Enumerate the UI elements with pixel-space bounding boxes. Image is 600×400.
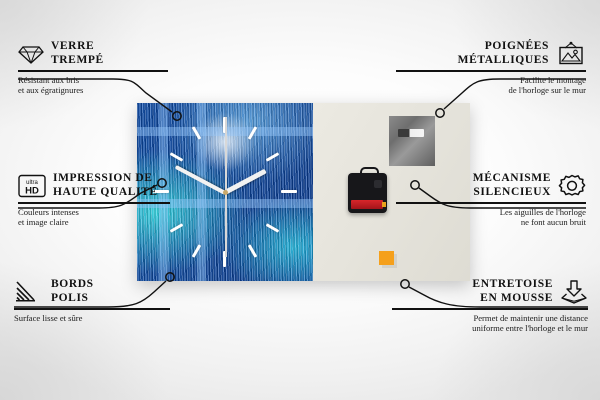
feature-description: Permet de maintenir une distance uniform… (392, 313, 588, 334)
feature-header: BORDS POLIS (14, 278, 194, 305)
feature-verre-trempe: VERRE TREMPÉ Résistant aux bris et aux é… (18, 40, 198, 95)
feature-title: MÉCANISME SILENCIEUX (473, 172, 551, 199)
feature-description: Facilite le montage de l'horloge sur le … (396, 75, 586, 96)
feature-divider (18, 202, 170, 204)
polished-edge-icon (14, 280, 44, 304)
movement-hanging-hook (360, 167, 379, 178)
svg-text:HD: HD (25, 185, 39, 196)
feature-bords-polis: BORDS POLIS Surface lisse et sûre (14, 278, 194, 323)
feature-title: IMPRESSION DE HAUTE QUALITÉ (53, 172, 158, 199)
feature-divider (18, 70, 168, 72)
feature-description: Résistant aux bris et aux égratignures (18, 75, 198, 96)
metal-hanger-bracket (389, 116, 435, 166)
feature-header: ultra HD IMPRESSION DE HAUTE QUALITÉ (18, 172, 198, 199)
feature-header: MÉCANISME SILENCIEUX (396, 172, 586, 199)
feature-title: VERRE TREMPÉ (51, 40, 104, 67)
feature-divider (396, 70, 586, 72)
feature-title: POIGNÉES MÉTALLIQUES (458, 40, 549, 67)
feature-header: ENTRETOISE EN MOUSSE (392, 278, 588, 305)
feature-divider (392, 308, 588, 310)
feature-divider (396, 202, 586, 204)
framed-picture-hanging-icon (556, 41, 586, 67)
feature-divider (14, 308, 170, 310)
feature-header: VERRE TREMPÉ (18, 40, 198, 67)
gear-icon (558, 173, 586, 199)
hour-marker-3 (281, 190, 297, 193)
foam-spacer (379, 251, 394, 265)
movement-time-knob (374, 180, 382, 188)
feature-poignees-metalliques: POIGNÉES MÉTALLIQUES Facilite le montage… (396, 40, 586, 95)
clock-face-band-v2 (197, 103, 206, 281)
infographic-canvas: VERRE TREMPÉ Résistant aux bris et aux é… (0, 0, 600, 400)
feature-mecanisme-silencieux: MÉCANISME SILENCIEUX Les aiguilles de l'… (396, 172, 586, 227)
bracket-slot (398, 129, 424, 137)
feature-header: POIGNÉES MÉTALLIQUES (396, 40, 586, 67)
feature-title: BORDS POLIS (51, 278, 94, 305)
quartz-movement (348, 173, 387, 213)
clock-second-hand (225, 117, 227, 257)
down-arrow-pad-icon (560, 279, 588, 305)
feature-description: Couleurs intenses et image claire (18, 207, 198, 228)
clock-center-cap (223, 190, 228, 195)
feature-title: ENTRETOISE EN MOUSSE (472, 278, 553, 305)
diamond-icon (18, 43, 44, 65)
feature-impression-haute-qualite: ultra HD IMPRESSION DE HAUTE QUALITÉ Cou… (18, 172, 198, 227)
feature-description: Les aiguilles de l'horloge ne font aucun… (396, 207, 586, 228)
ultra-hd-icon: ultra HD (18, 174, 46, 198)
feature-entretoise-en-mousse: ENTRETOISE EN MOUSSE Permet de maintenir… (392, 278, 588, 333)
battery (351, 200, 383, 209)
feature-description: Surface lisse et sûre (14, 313, 194, 323)
